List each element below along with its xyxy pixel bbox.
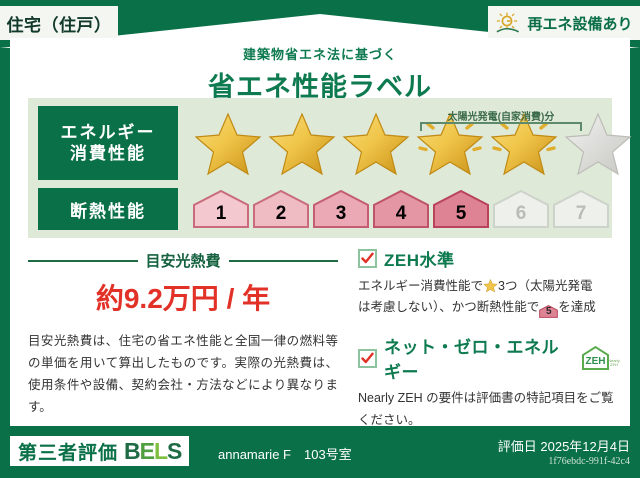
zeh-netzero-checkbox [358, 349, 377, 368]
energy-performance-label: エネルギー 消費性能 [38, 106, 178, 180]
zeh-standard-body-part2: は考慮しない）、かつ断熱性能で [358, 300, 539, 314]
energy-performance-row: エネルギー 消費性能 [38, 106, 634, 180]
insulation-chip-5-achieved: 5 [432, 189, 490, 229]
star-5-filled-solar [488, 108, 560, 178]
zeh-house-logo-icon: ZEH Nearly ZEH [580, 345, 620, 371]
evaluation-id: 1f76ebdc-991f-42c4 [548, 456, 630, 467]
insulation-chip-2-label: 2 [276, 203, 287, 225]
zeh-column: ZEH水準 エネルギー消費性能で3つ（太陽光発電は考慮しない）、かつ断熱性能で5… [358, 246, 620, 439]
star-6-empty [562, 108, 634, 178]
star-4-filled-solar [414, 108, 486, 178]
performance-panel: エネルギー 消費性能 [28, 98, 612, 238]
zeh-standard-block: ZEH水準 エネルギー消費性能で3つ（太陽光発電は考慮しない）、かつ断熱性能で5… [358, 246, 620, 319]
zeh-standard-title: ZEH水準 [384, 246, 455, 271]
star-3-filled [340, 108, 412, 178]
footer: 第三者評価 BELS annamarie F 103号室 評価日 2025年12… [0, 428, 640, 478]
insulation-performance-row: 断熱性能 1 2 3 [38, 188, 610, 230]
svg-text:ZEH: ZEH [610, 362, 618, 367]
insulation-performance-label: 断熱性能 [38, 188, 178, 230]
insulation-chip-3: 3 [312, 189, 370, 229]
inline-star-icon [483, 278, 498, 293]
renewable-equipment-badge: 再エネ設備あり [488, 6, 640, 40]
cost-note: 目安光熱費は、住宅の省エネ性能と全国一律の燃料等の単価を用いて算出したものです。… [28, 331, 338, 419]
bels-jp-label: 第三者評価 [18, 438, 118, 465]
insulation-label-text: 断熱性能 [70, 197, 146, 222]
zeh-netzero-title: ネット・ゼロ・エネルギー [384, 333, 570, 383]
cost-heading: 目安光熱費 [28, 250, 338, 271]
bels-en-logo: BELS [124, 438, 181, 465]
zeh-standard-body: エネルギー消費性能で3つ（太陽光発電は考慮しない）、かつ断熱性能で5を達成 [358, 276, 620, 319]
property-name: annamarie F 103号室 [218, 444, 352, 463]
zeh-netzero-block: ネット・ゼロ・エネルギー ZEH Nearly ZEH Nearly ZEH の… [358, 333, 620, 431]
cost-heading-text: 目安光熱費 [146, 250, 221, 271]
insulation-scale: 1 2 3 4 5 [192, 189, 610, 229]
insulation-chip-1-label: 1 [216, 203, 227, 225]
zeh-standard-body-part1: エネルギー消費性能で [358, 279, 483, 293]
insulation-chip-4: 4 [372, 189, 430, 229]
renewable-equipment-label: 再エネ設備あり [527, 13, 632, 34]
insulation-chip-7: 7 [552, 189, 610, 229]
zeh-standard-head: ZEH水準 [358, 246, 620, 271]
insulation-chip-1: 1 [192, 189, 250, 229]
cost-value: 約9.2万円 / 年 [28, 277, 338, 317]
zeh-standard-checkbox [358, 249, 377, 268]
title-block: 建築物省エネ法に基づく 省エネ性能ラベル [10, 38, 630, 104]
label-card: 建築物省エネ法に基づく 省エネ性能ラベル エネルギー 消費性能 [10, 38, 630, 426]
zeh-netzero-body: Nearly ZEH の要件は評価書の特記項目をご覧ください。 [358, 388, 620, 431]
title-subtitle: 建築物省エネ法に基づく [10, 44, 630, 63]
energy-label-root: 住宅（住戸） 再エネ設備あり 建築物省エネ法に基づく 省エネ性能ラベル エネルギ… [0, 0, 640, 478]
housing-type-label: 住宅（住戸） [7, 11, 112, 36]
svg-text:ZEH: ZEH [586, 356, 606, 367]
insulation-chip-4-label: 4 [396, 203, 407, 225]
inline-insulation-chip-icon: 5 [539, 304, 558, 319]
check-icon [361, 352, 374, 365]
energy-label-line2: 消費性能 [70, 143, 146, 164]
zeh-netzero-head: ネット・ゼロ・エネルギー ZEH Nearly ZEH [358, 333, 620, 383]
zeh-standard-body-starcount: 3つ（太陽光発電 [498, 279, 592, 293]
star-1-filled [192, 108, 264, 178]
cost-heading-rule-right [229, 260, 339, 262]
cost-heading-rule-left [28, 260, 138, 262]
insulation-chip-3-label: 3 [336, 203, 347, 225]
insulation-chip-6-label: 6 [516, 203, 527, 225]
bels-badge: 第三者評価 BELS [10, 436, 189, 466]
zeh-standard-body-part3: を達成 [558, 300, 596, 314]
cost-column: 目安光熱費 約9.2万円 / 年 目安光熱費は、住宅の省エネ性能と全国一律の燃料… [28, 246, 338, 419]
insulation-chip-6: 6 [492, 189, 550, 229]
star-2-filled [266, 108, 338, 178]
inline-chip-label: 5 [539, 304, 558, 320]
energy-label-line1: エネルギー [61, 122, 156, 143]
insulation-chip-5-label: 5 [456, 203, 467, 225]
star-rating [192, 108, 634, 178]
evaluation-date: 評価日 2025年12月4日 [498, 436, 630, 455]
insulation-chip-2: 2 [252, 189, 310, 229]
housing-type-badge: 住宅（住戸） [0, 6, 118, 40]
check-icon [361, 252, 374, 265]
sun-solar-icon [495, 12, 521, 34]
insulation-chip-7-label: 7 [576, 203, 587, 225]
